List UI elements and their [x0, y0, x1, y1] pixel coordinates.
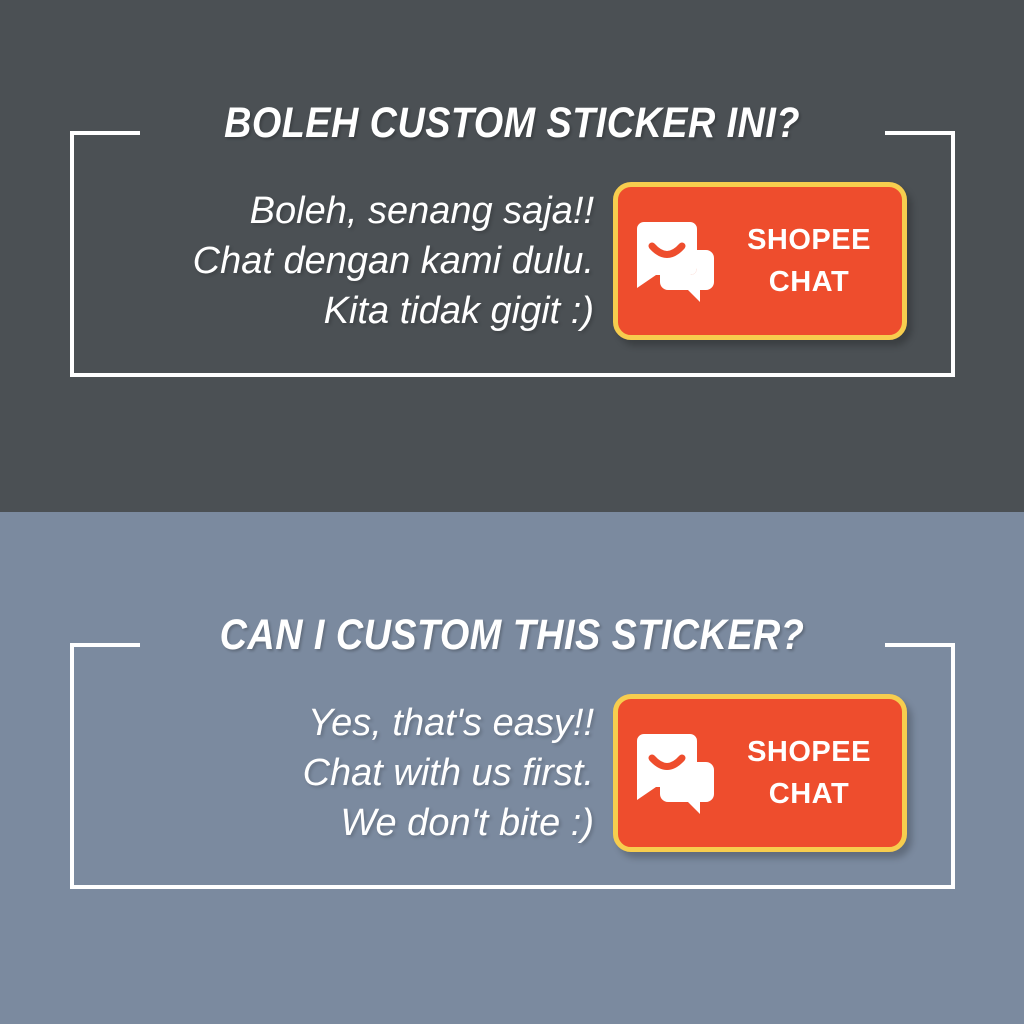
- answer-line-3: We don't bite :): [92, 798, 594, 848]
- shopee-chat-label-line-1: SHOPEE: [722, 219, 896, 261]
- frame-edge-right: [951, 643, 955, 889]
- shopee-chat-label: SHOPEE CHAT: [722, 219, 902, 303]
- frame-edge-right: [951, 131, 955, 377]
- answer-line-2: Chat dengan kami dulu.: [92, 236, 594, 286]
- shopee-chat-label-line-1: SHOPEE: [722, 731, 896, 773]
- shopee-chat-label-line-2: CHAT: [722, 261, 896, 303]
- frame-edge-left: [70, 131, 74, 377]
- frame-edge-bottom: [70, 373, 955, 377]
- frame-edge-bottom: [70, 885, 955, 889]
- frame-edge-top-right: [885, 131, 955, 135]
- shopee-chat-button[interactable]: SHOPEE CHAT: [613, 694, 907, 852]
- shopee-chat-button[interactable]: SHOPEE CHAT: [613, 182, 907, 340]
- frame-edge-top-right: [885, 643, 955, 647]
- panel-english: CAN I CUSTOM THIS STICKER? Yes, that's e…: [0, 512, 1024, 1024]
- answer-line-1: Yes, that's easy!!: [92, 698, 594, 748]
- frame-edge-top-left: [70, 131, 140, 135]
- panel-indonesian: BOLEH CUSTOM STICKER INI? Boleh, senang …: [0, 0, 1024, 512]
- frame-edge-left: [70, 643, 74, 889]
- answer-line-2: Chat with us first.: [92, 748, 594, 798]
- answer-text: Yes, that's easy!! Chat with us first. W…: [92, 698, 594, 848]
- answer-line-1: Boleh, senang saja!!: [92, 186, 594, 236]
- chat-bubbles-icon: [634, 731, 722, 815]
- frame-edge-top-left: [70, 643, 140, 647]
- shopee-chat-label: SHOPEE CHAT: [722, 731, 902, 815]
- answer-text: Boleh, senang saja!! Chat dengan kami du…: [92, 186, 594, 336]
- sticker-sheet: BOLEH CUSTOM STICKER INI? Boleh, senang …: [0, 0, 1024, 1024]
- chat-bubbles-icon: [634, 219, 722, 303]
- shopee-chat-label-line-2: CHAT: [722, 773, 896, 815]
- answer-line-3: Kita tidak gigit :): [92, 286, 594, 336]
